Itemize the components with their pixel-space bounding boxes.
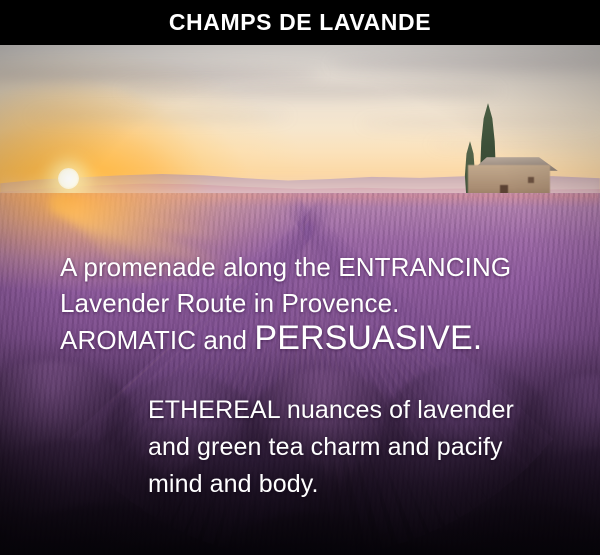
headline-line-2: Lavender Route in Provence. [60,285,580,321]
field-horizon-band [0,193,600,207]
page-title: CHAMPS DE LAVANDE [169,11,431,34]
lavender-bush [190,513,430,555]
headline-emphasis-word: PERSUASIVE. [254,319,482,357]
lavender-bush [0,505,220,555]
headline-line-3-lead: AROMATIC and [60,325,254,355]
body-line-1: ETHEREAL nuances of lavender [148,392,578,429]
body-line-2: and green tea charm and pacify [148,429,578,466]
body-line-3: mind and body. [148,466,578,503]
headline-line-3: AROMATIC and PERSUASIVE. [60,321,580,358]
cloud-streak-icon [30,111,290,121]
cloud-streak-icon [120,85,500,97]
cloud-streak-icon [430,141,600,148]
header-bar: CHAMPS DE LAVANDE [0,0,600,45]
lavender-promo-poster: CHAMPS DE LAVANDE [0,0,600,555]
headline-line-1: A promenade along the ENTRANCING [60,249,580,285]
cloud-streak-icon [360,119,600,128]
headline-paragraph: A promenade along the ENTRANCING Lavende… [60,249,580,358]
sun-icon [58,168,79,189]
stone-house-window [528,177,534,183]
lavender-bush [0,361,140,511]
body-paragraph: ETHEREAL nuances of lavender and green t… [148,392,578,503]
lavender-bush [410,505,600,555]
